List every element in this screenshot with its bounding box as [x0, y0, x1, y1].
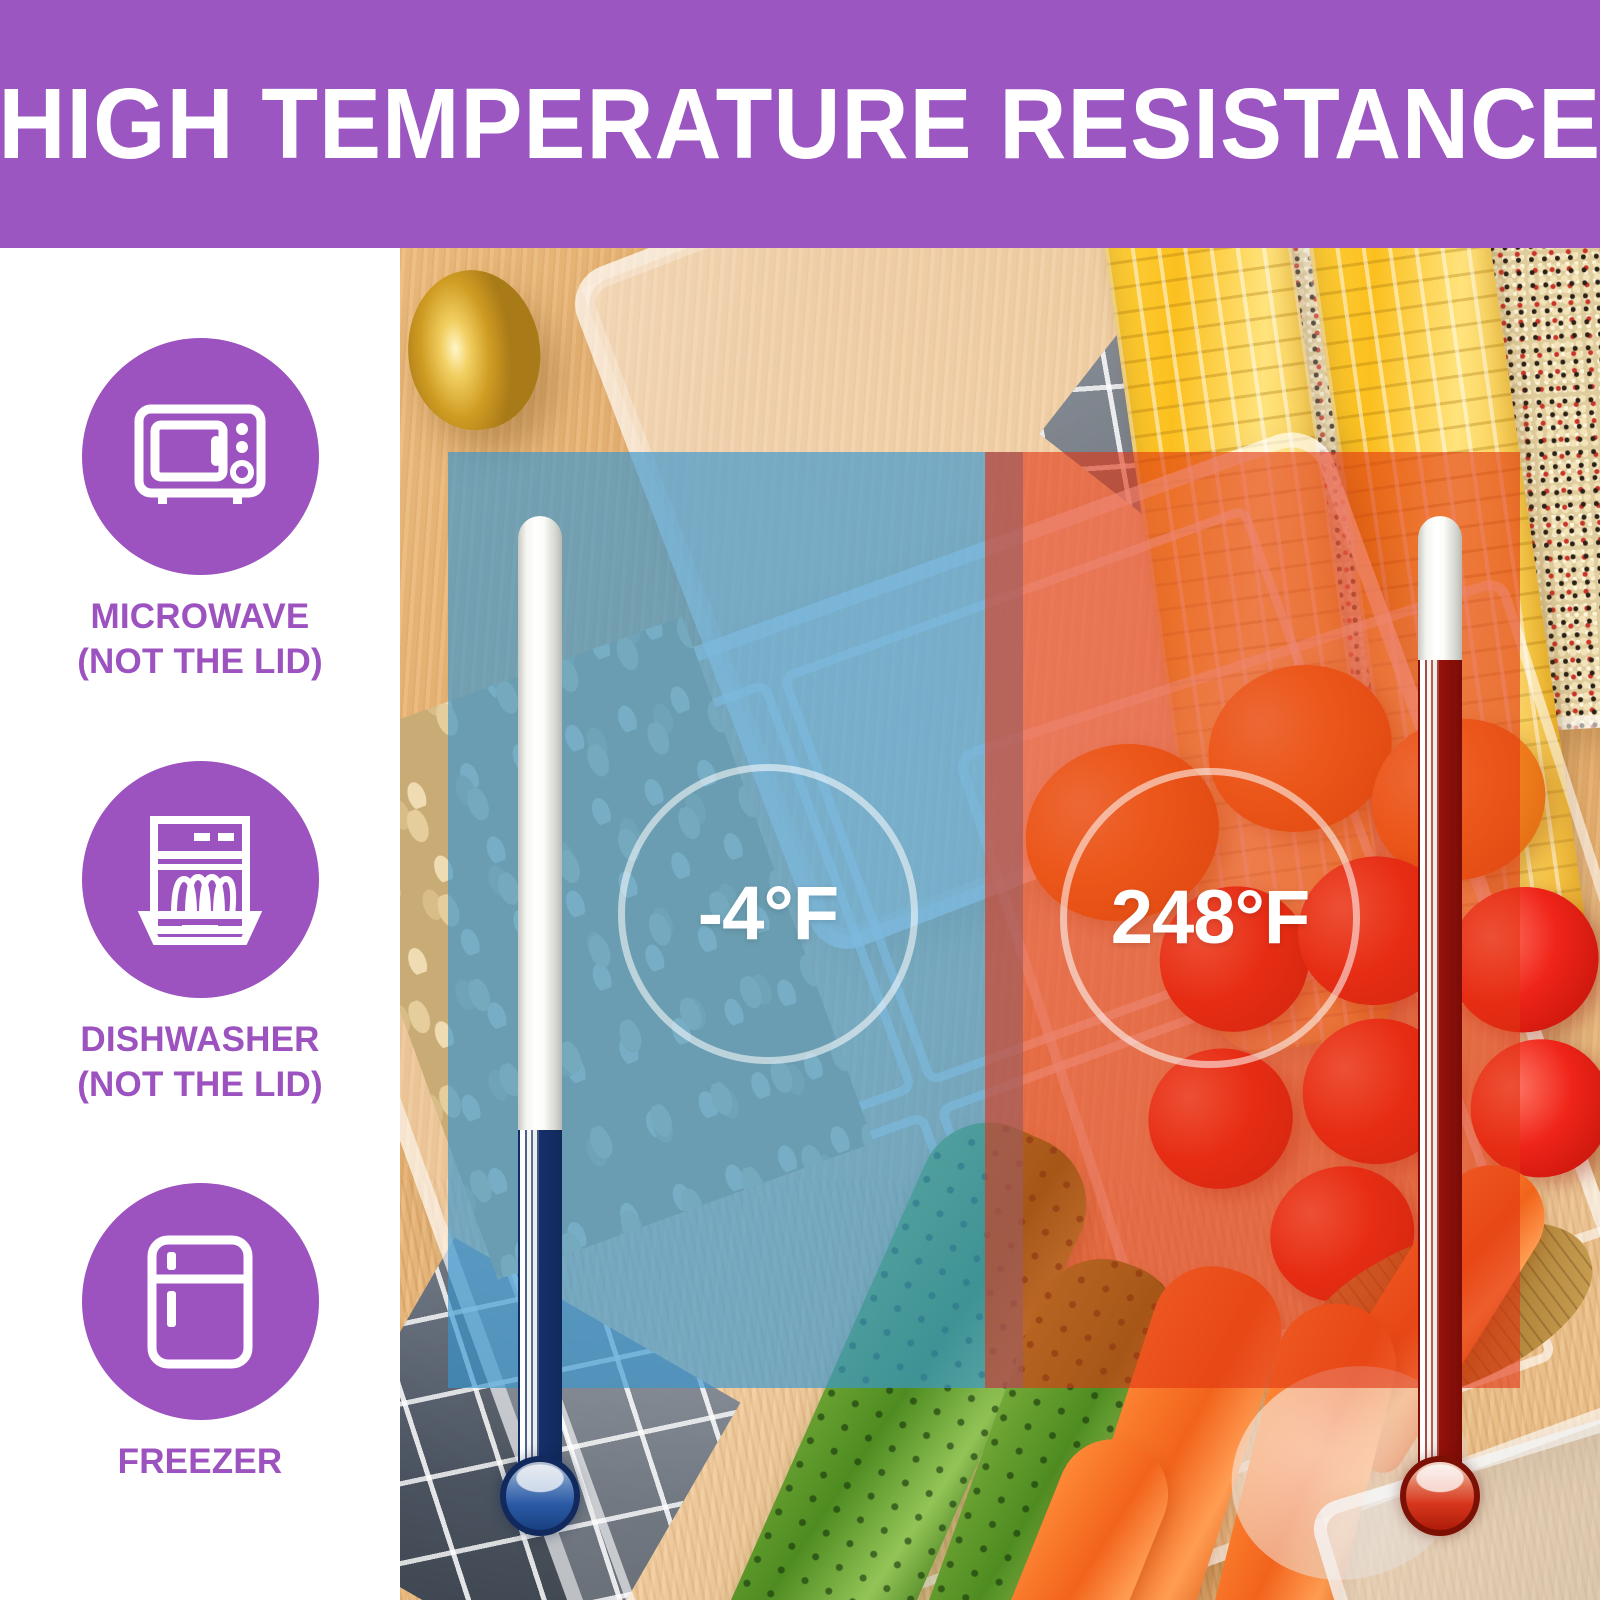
- thermometer-tube: [1418, 516, 1462, 1476]
- thermometer-highlight: [520, 1130, 539, 1476]
- header-banner: HIGH TEMPERATURE RESISTANCE: [0, 0, 1600, 248]
- microwave-icon: [134, 404, 266, 510]
- hot-thermometer: [1400, 516, 1480, 1536]
- cold-temperature-value: -4°F: [698, 876, 838, 952]
- hot-temperature-badge: 248°F: [1060, 768, 1360, 1068]
- product-photo: -4°F 248°F: [400, 248, 1600, 1600]
- thermometer-mercury-cold: [518, 1130, 562, 1476]
- feature-label-dishwasher: DISHWASHER (NOT THE LID): [77, 1018, 323, 1108]
- dishwasher-icon-badge: [82, 761, 319, 998]
- infographic-canvas: HIGH TEMPERATURE RESISTANCE: [0, 0, 1600, 1600]
- cold-temperature-badge: -4°F: [618, 764, 918, 1064]
- thermometer-bulb-cold: [500, 1456, 580, 1536]
- dishwasher-icon: [138, 815, 262, 945]
- thermometer-highlight: [1420, 660, 1439, 1476]
- feature-item-freezer: FREEZER: [0, 1183, 400, 1485]
- feature-label-microwave: MICROWAVE (NOT THE LID): [77, 595, 323, 685]
- freezer-icon-badge: [82, 1183, 319, 1420]
- feature-item-microwave: MICROWAVE (NOT THE LID): [0, 338, 400, 685]
- feature-label-freezer: FREEZER: [118, 1440, 283, 1485]
- microwave-icon-badge: [82, 338, 319, 575]
- feature-item-dishwasher: DISHWASHER (NOT THE LID): [0, 761, 400, 1108]
- thermometer-mercury-hot: [1418, 660, 1462, 1476]
- hot-temperature-value: 248°F: [1111, 880, 1310, 956]
- feature-sidebar: MICROWAVE (NOT THE LID) D: [0, 248, 400, 1600]
- cold-thermometer: [500, 516, 580, 1536]
- freezer-icon: [147, 1235, 253, 1369]
- thermometer-tube: [518, 516, 562, 1476]
- thermometer-bulb-hot: [1400, 1456, 1480, 1536]
- page-title: HIGH TEMPERATURE RESISTANCE: [0, 74, 1600, 174]
